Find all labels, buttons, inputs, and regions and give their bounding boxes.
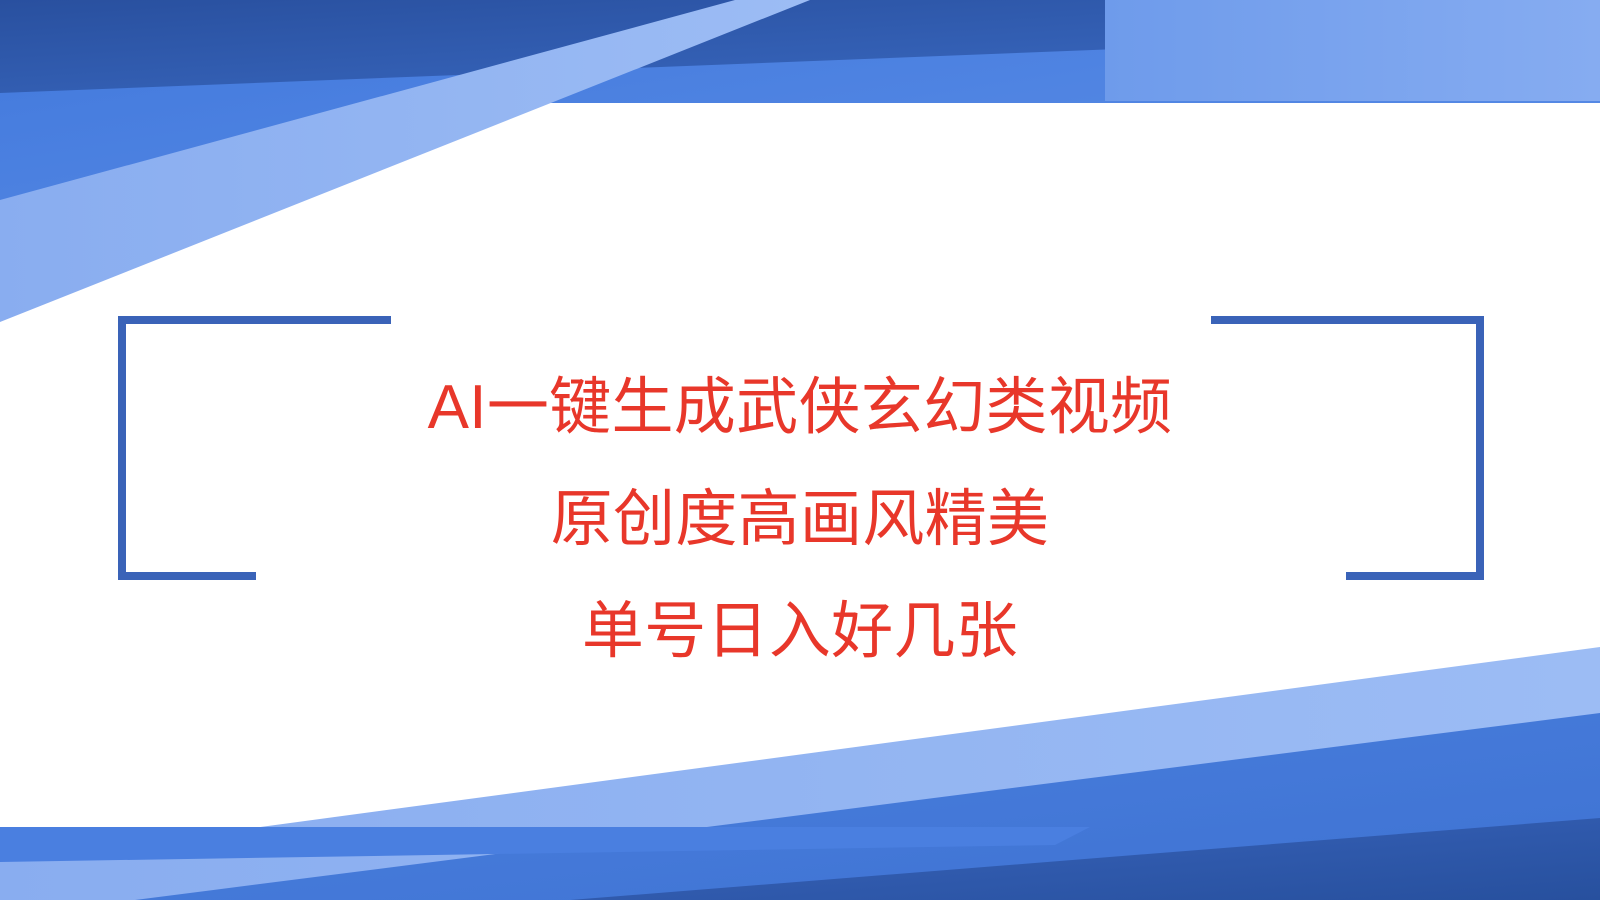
shape-top-right-band [1105,0,1600,101]
headline-line-1: AI一键生成武侠玄幻类视频 [0,352,1600,464]
frame-bracket-left-top [118,316,391,324]
headline-line-3: 单号日入好几张 [0,576,1600,688]
headline-line-2: 原创度高画风精美 [0,464,1600,576]
frame-bracket-right-top [1211,316,1484,324]
headline-block: AI一键生成武侠玄幻类视频 原创度高画风精美 单号日入好几张 [0,352,1600,688]
banner-canvas: AI一键生成武侠玄幻类视频 原创度高画风精美 单号日入好几张 [0,0,1600,900]
